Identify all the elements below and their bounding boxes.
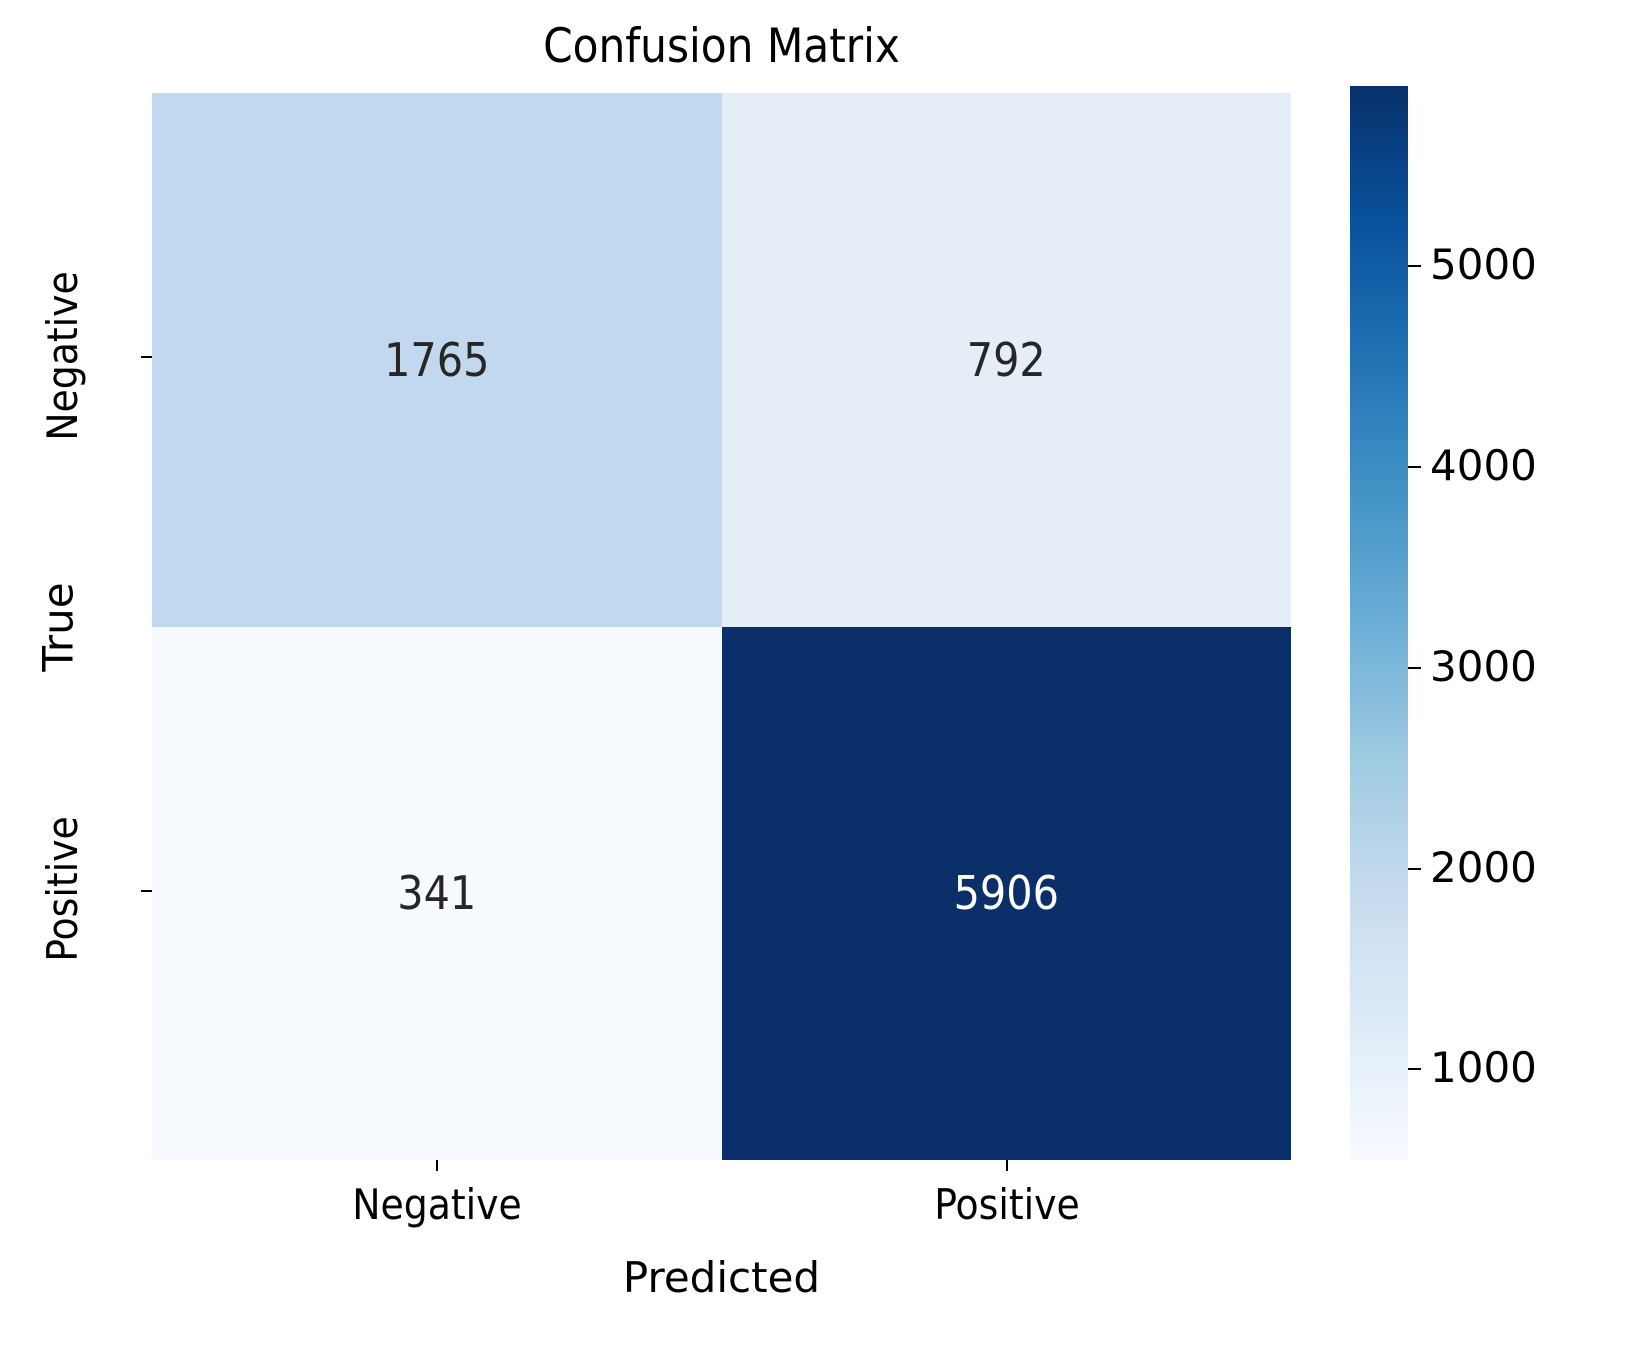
heatmap-cell-true-negative: 1765 <box>152 93 722 627</box>
colorbar-tick-label: 4000 <box>1430 439 1537 493</box>
colorbar-tick-label: 1000 <box>1430 1041 1537 1095</box>
confusion-matrix-figure: Confusion Matrix True Negative Positive … <box>0 0 1645 1361</box>
colorbar-tick-mark <box>1408 868 1421 870</box>
heatmap-cell-false-negative: 341 <box>152 627 722 1161</box>
heatmap-cell-value: 5906 <box>954 870 1059 916</box>
colorbar-tick-label: 5000 <box>1430 238 1537 292</box>
heatmap-cell-value: 341 <box>397 870 476 916</box>
colorbar: 50004000300020001000 <box>1350 86 1408 1160</box>
page-title: Confusion Matrix <box>152 16 1291 78</box>
y-tick-label-positive: Positive <box>37 764 89 1014</box>
colorbar-tick-mark <box>1408 1068 1421 1070</box>
heatmap-cell-true-positive: 5906 <box>722 627 1292 1161</box>
colorbar-gradient <box>1350 86 1408 1160</box>
x-tick-label-negative: Negative <box>237 1175 637 1235</box>
heatmap-cell-value: 1765 <box>384 337 489 383</box>
y-tick-label-negative: Negative <box>37 231 89 481</box>
x-tick-mark-negative <box>436 1160 438 1171</box>
y-tick-mark-negative <box>141 356 152 358</box>
heatmap-grid: 1765 792 341 5906 <box>152 93 1291 1160</box>
x-tick-label-positive: Positive <box>807 1175 1207 1235</box>
colorbar-tick-label: 3000 <box>1430 640 1537 694</box>
heatmap-cell-value: 792 <box>967 337 1046 383</box>
heatmap-cell-false-positive: 792 <box>722 93 1292 627</box>
x-tick-mark-positive <box>1006 1160 1008 1171</box>
colorbar-tick-mark <box>1408 466 1421 468</box>
x-axis-label: Predicted <box>152 1248 1291 1308</box>
colorbar-tick-label: 2000 <box>1430 841 1537 895</box>
colorbar-tick-mark <box>1408 265 1421 267</box>
colorbar-tick-mark <box>1408 667 1421 669</box>
y-tick-mark-positive <box>141 890 152 892</box>
